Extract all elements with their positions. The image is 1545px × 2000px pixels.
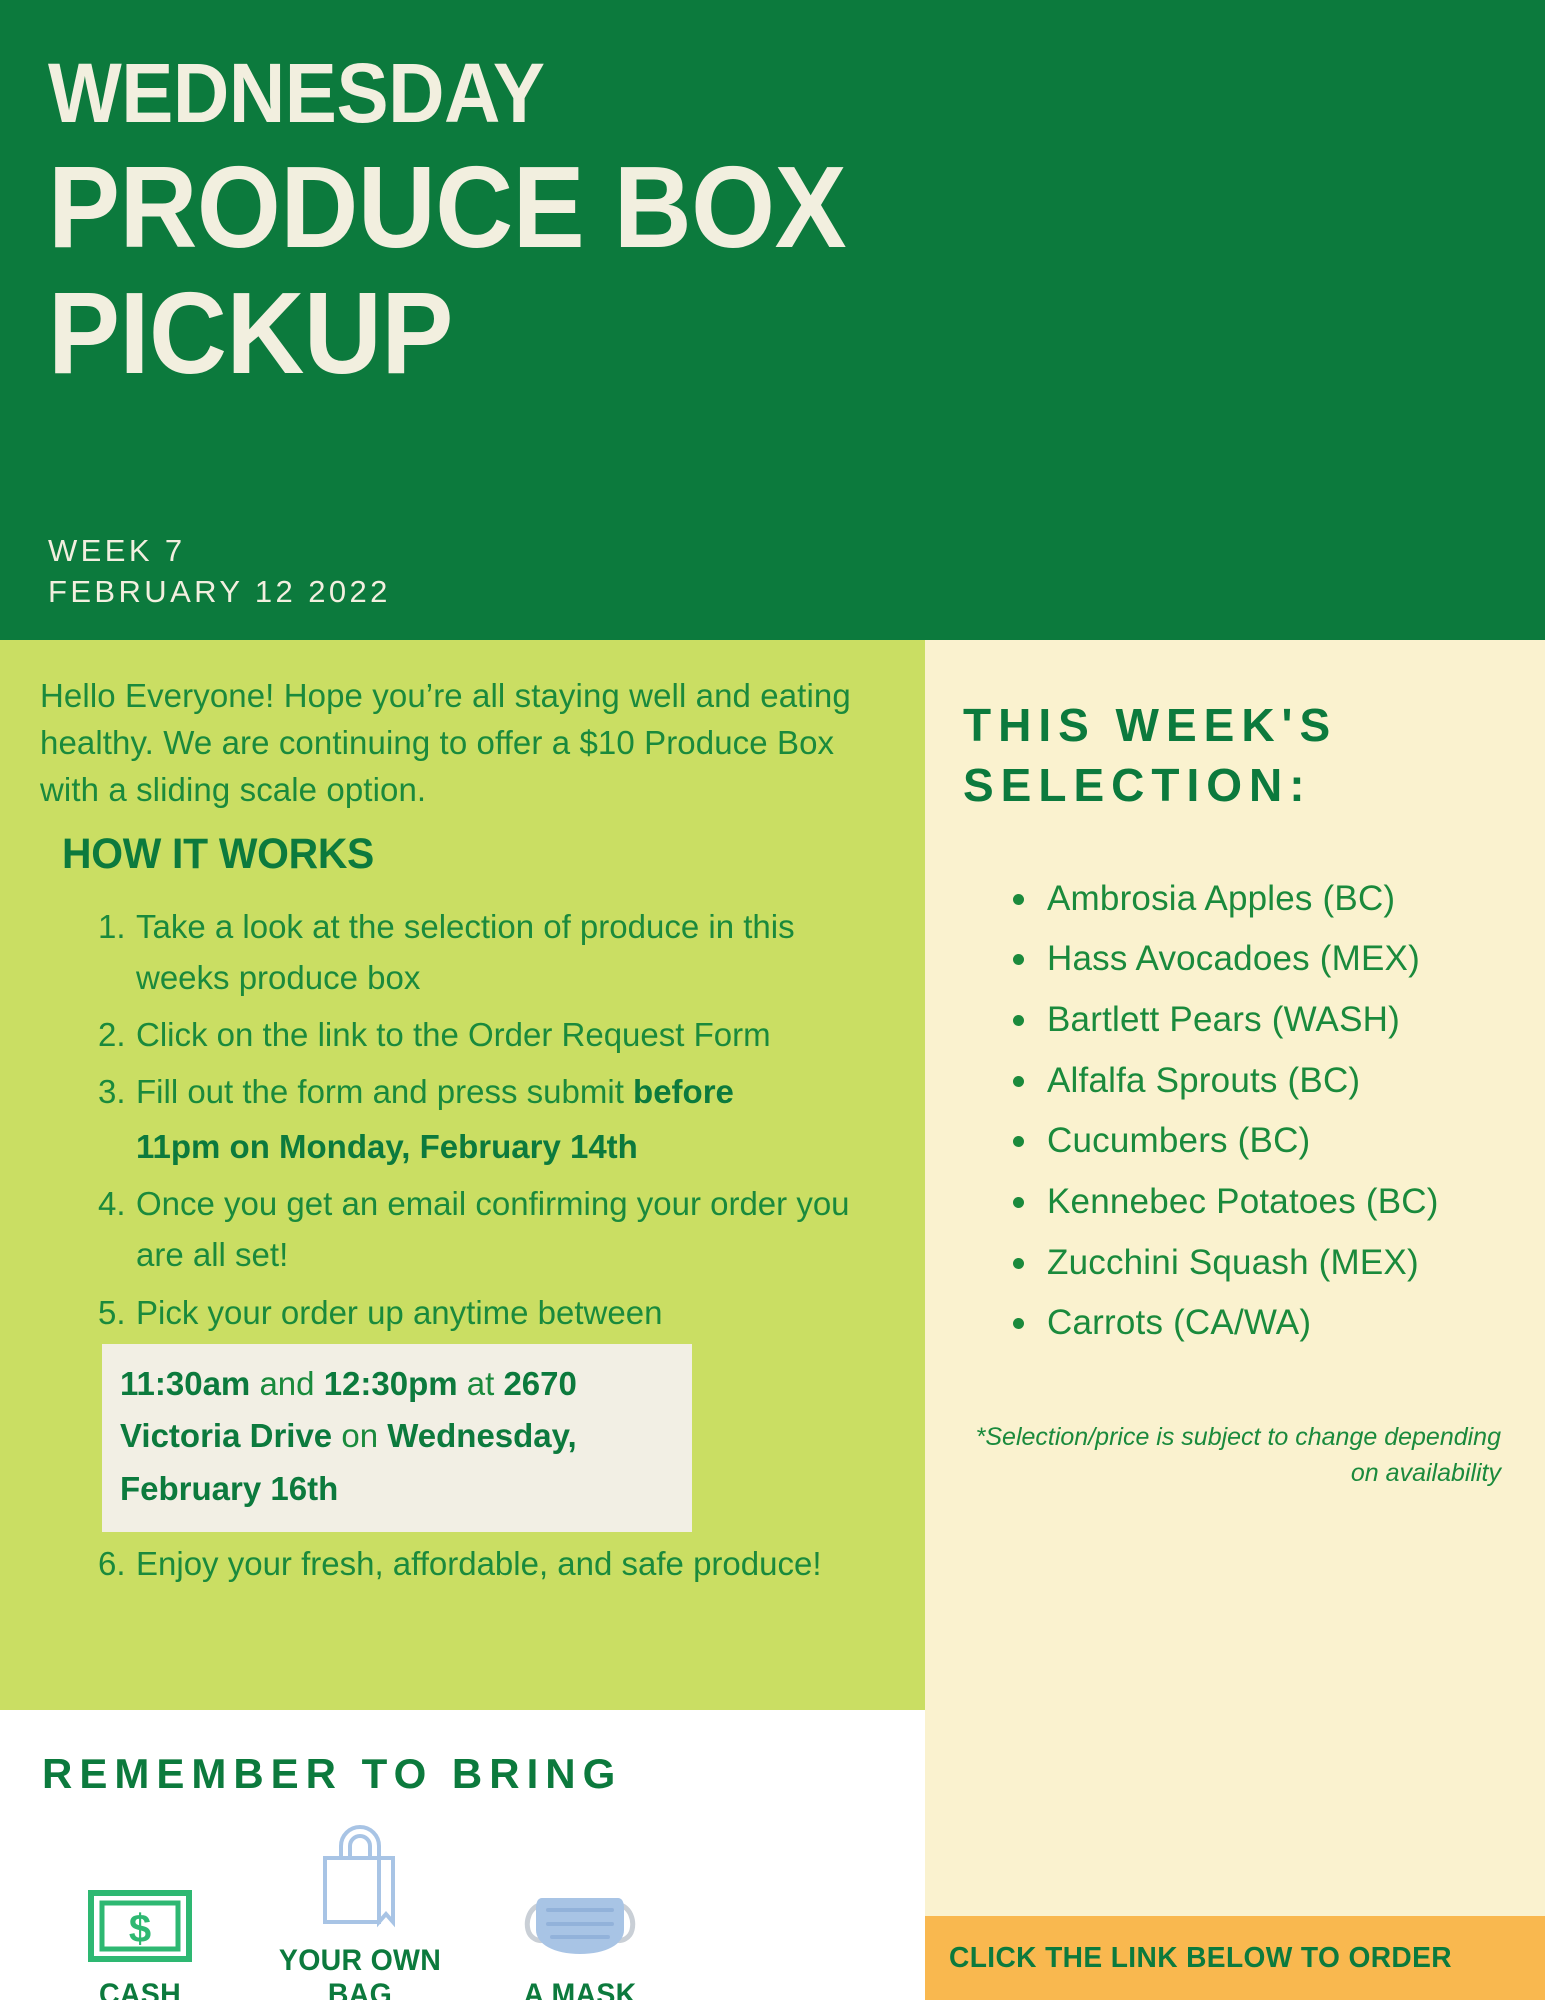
pickup-details-box: 11:30am and 12:30pm at 2670 Victoria Dri… <box>102 1344 692 1532</box>
list-item: Cucumbers (BC) <box>1013 1116 1511 1166</box>
selection-disclaimer: *Selection/price is subject to change de… <box>963 1420 1501 1491</box>
svg-text:$: $ <box>129 1907 151 1951</box>
date-label: FEBRUARY 12 2022 <box>48 571 391 612</box>
list-item: 2. Click on the link to the Order Reques… <box>40 1009 883 1060</box>
list-item: Alfalfa Sprouts (BC) <box>1013 1056 1511 1106</box>
step-number: 5. <box>98 1287 138 1338</box>
bring-label: YOUR OWN BAG <box>265 1944 455 2000</box>
remember-to-bring-section: REMEMBER TO BRING $ CASH <box>0 1710 925 2000</box>
list-item: Bartlett Pears (WASH) <box>1013 995 1511 1045</box>
step-number: 2. <box>98 1009 138 1060</box>
how-it-works-heading: HOW IT WORKS <box>62 830 842 879</box>
step-number: 3. <box>98 1066 138 1117</box>
page-title-line-1: WEDNESDAY <box>48 54 1396 132</box>
step-text: Click on the link to the Order Request F… <box>136 1016 771 1053</box>
header-meta: WEEK 7 FEBRUARY 12 2022 <box>48 530 391 612</box>
list-item: Hass Avocadoes (MEX) <box>1013 934 1511 984</box>
face-mask-icon <box>480 1854 680 1962</box>
pickup-conj-and: and <box>250 1365 323 1402</box>
list-item: Carrots (CA/WA) <box>1013 1298 1511 1348</box>
shopping-bag-icon <box>260 1820 460 1928</box>
selection-panel: THIS WEEK'S SELECTION: Ambrosia Apples (… <box>925 640 1545 1916</box>
remember-to-bring-heading: REMEMBER TO BRING <box>42 1750 925 1798</box>
pickup-time-end: 12:30pm <box>324 1365 458 1402</box>
list-item: Zucchini Squash (MEX) <box>1013 1238 1511 1288</box>
list-item: Ambrosia Apples (BC) <box>1013 874 1511 924</box>
list-item: 4. Once you get an email confirming your… <box>40 1178 883 1280</box>
order-link-cta-bar[interactable]: CLICK THE LINK BELOW TO ORDER <box>925 1916 1545 2000</box>
intro-paragraph: Hello Everyone! Hope you’re all staying … <box>40 672 883 814</box>
list-item: Kennebec Potatoes (BC) <box>1013 1177 1511 1227</box>
pickup-time-start: 11:30am <box>120 1365 250 1402</box>
page-title-line-2: PRODUCE BOX <box>48 154 1396 262</box>
list-item: 5. Pick your order up anytime between 11… <box>40 1287 883 1533</box>
bring-items-row: $ CASH YOUR OWN BAG <box>40 1820 680 2000</box>
steps-list: 1. Take a look at the selection of produ… <box>40 901 883 1590</box>
step-deadline: 11pm on Monday, February 14th <box>136 1121 883 1172</box>
header-banner: WEDNESDAY PRODUCE BOX PICKUP WEEK 7 FEBR… <box>0 0 1545 640</box>
bring-item-cash: $ CASH <box>40 1854 240 2000</box>
step-number: 4. <box>98 1178 138 1229</box>
poster-page: WEDNESDAY PRODUCE BOX PICKUP WEEK 7 FEBR… <box>0 0 1545 2000</box>
list-item: 6. Enjoy your fresh, affordable, and saf… <box>40 1538 883 1589</box>
list-item: 3. Fill out the form and press submit be… <box>40 1066 883 1172</box>
bring-item-mask: A MASK <box>480 1854 680 2000</box>
bring-label: CASH <box>45 1978 235 2000</box>
selection-heading: THIS WEEK'S SELECTION: <box>963 696 1511 816</box>
order-link-cta-label: CLICK THE LINK BELOW TO ORDER <box>949 1942 1452 1975</box>
step-text: Once you get an email confirming your or… <box>136 1185 850 1273</box>
bring-label: A MASK <box>485 1978 675 2000</box>
step-text-emphasis: before <box>633 1073 734 1110</box>
step-text: Pick your order up anytime between <box>136 1294 662 1331</box>
cash-icon: $ <box>40 1854 240 1962</box>
step-number: 6. <box>98 1538 138 1589</box>
pickup-conj-on: on <box>332 1417 387 1454</box>
pickup-conj-at: at <box>458 1365 504 1402</box>
page-title-line-3: PICKUP <box>48 280 1396 388</box>
step-text: Take a look at the selection of produce … <box>136 908 795 996</box>
bring-item-bag: YOUR OWN BAG <box>260 1820 460 2000</box>
step-text: Fill out the form and press submit <box>136 1073 633 1110</box>
produce-list: Ambrosia Apples (BC) Hass Avocadoes (MEX… <box>973 874 1511 1349</box>
step-number: 1. <box>98 901 138 952</box>
step-text: Enjoy your fresh, affordable, and safe p… <box>136 1545 822 1582</box>
week-label: WEEK 7 <box>48 530 391 571</box>
how-it-works-panel: Hello Everyone! Hope you’re all staying … <box>0 640 925 1710</box>
list-item: 1. Take a look at the selection of produ… <box>40 901 883 1003</box>
